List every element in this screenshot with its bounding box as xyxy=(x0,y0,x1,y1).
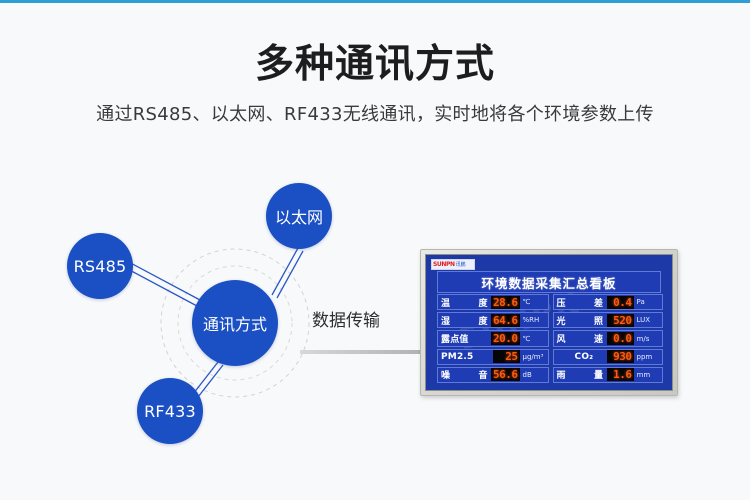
node-rs485[interactable]: RS485 xyxy=(67,233,133,299)
metric-label: CO₂ xyxy=(557,352,594,362)
page-subtitle: 通过RS485、以太网、RF433无线通讯，实时地将各个环境参数上传 xyxy=(0,100,750,126)
node-rf433-label: RF433 xyxy=(144,402,196,421)
table-row: 露点值 20.0 ℃ xyxy=(437,330,549,346)
metric-value: 25 xyxy=(493,350,520,363)
metric-unit: ppm xyxy=(637,353,659,361)
node-center-communication[interactable]: 通讯方式 xyxy=(192,280,278,366)
brand-logo-secondary: 讯鹏 xyxy=(455,261,466,268)
metric-unit: LUX xyxy=(637,316,659,324)
node-rs485-label: RS485 xyxy=(74,257,127,276)
measurement-column-right: 压 差 0.4 Pa 光 照 520 LUX 风 速 0.0 xyxy=(553,294,663,383)
metric-value: 28.6 xyxy=(491,296,520,309)
metric-value: 20.0 xyxy=(491,332,520,345)
measurement-grid: 温 度 28.6 ℃ 湿 度 64.6 %RH 露点值 20. xyxy=(437,294,661,383)
metric-unit: dB xyxy=(523,371,545,379)
connector-rs485 xyxy=(122,260,200,306)
communication-diagram: RS485 以太网 RF433 通讯方式 xyxy=(40,160,440,460)
brand-logo: SUNPN 讯鹏 xyxy=(431,259,475,270)
metric-unit: ℃ xyxy=(523,335,545,343)
metric-value: 520 xyxy=(607,314,634,327)
metric-label: 压 差 xyxy=(557,296,607,309)
table-row: 噪 音 56.6 dB xyxy=(437,367,549,383)
node-rf433[interactable]: RF433 xyxy=(137,378,203,444)
metric-unit: Pa xyxy=(637,298,659,306)
brand-logo-primary: SUNPN xyxy=(432,261,455,268)
metric-label: 温 度 xyxy=(441,296,491,309)
data-transfer-label: 数据传输 xyxy=(312,306,380,331)
node-center-label: 通讯方式 xyxy=(203,311,267,335)
metric-value: 56.6 xyxy=(491,368,520,381)
metric-unit: ℃ xyxy=(523,298,545,306)
board-title: 环境数据采集汇总看板 xyxy=(437,271,661,293)
metric-label: 噪 音 xyxy=(441,368,491,381)
led-board-screen: SUNPN SUNPN 讯鹏 环境数据采集汇总看板 温 度 28.6 ℃ 湿 度 xyxy=(425,254,673,391)
metric-label: PM2.5 xyxy=(441,352,474,362)
metric-value: 1.6 xyxy=(607,368,634,381)
metric-label: 雨 量 xyxy=(557,368,607,381)
measurement-column-left: 温 度 28.6 ℃ 湿 度 64.6 %RH 露点值 20. xyxy=(437,294,549,383)
table-row: PM2.5 25 µg/m³ xyxy=(437,349,549,365)
metric-unit: µg/m³ xyxy=(523,353,545,361)
metric-label: 露点值 xyxy=(441,332,469,345)
metric-unit: m/s xyxy=(637,335,659,343)
connector-ethernet xyxy=(272,248,303,298)
led-display-board: SUNPN SUNPN 讯鹏 环境数据采集汇总看板 温 度 28.6 ℃ 湿 度 xyxy=(420,249,678,396)
table-row: CO₂ 930 ppm xyxy=(553,349,663,365)
metric-value: 0.0 xyxy=(607,332,634,345)
metric-unit: %RH xyxy=(523,316,545,324)
metric-label: 风 速 xyxy=(557,332,607,345)
metric-label: 湿 度 xyxy=(441,314,491,327)
node-ethernet[interactable]: 以太网 xyxy=(266,183,332,249)
metric-value: 0.4 xyxy=(607,296,634,309)
metric-unit: mm xyxy=(637,371,659,379)
metric-value: 64.6 xyxy=(491,314,520,327)
table-row: 雨 量 1.6 mm xyxy=(553,367,663,383)
top-accent-bar xyxy=(0,0,750,3)
page-title: 多种通讯方式 xyxy=(0,33,750,89)
metric-label: 光 照 xyxy=(557,314,607,327)
table-row: 湿 度 64.6 %RH xyxy=(437,312,549,328)
table-row: 光 照 520 LUX xyxy=(553,312,663,328)
metric-value: 930 xyxy=(607,350,634,363)
page-root: 多种通讯方式 通过RS485、以太网、RF433无线通讯，实时地将各个环境参数上… xyxy=(0,0,750,500)
table-row: 风 速 0.0 m/s xyxy=(553,330,663,346)
table-row: 压 差 0.4 Pa xyxy=(553,294,663,310)
node-ethernet-label: 以太网 xyxy=(275,204,323,228)
table-row: 温 度 28.6 ℃ xyxy=(437,294,549,310)
